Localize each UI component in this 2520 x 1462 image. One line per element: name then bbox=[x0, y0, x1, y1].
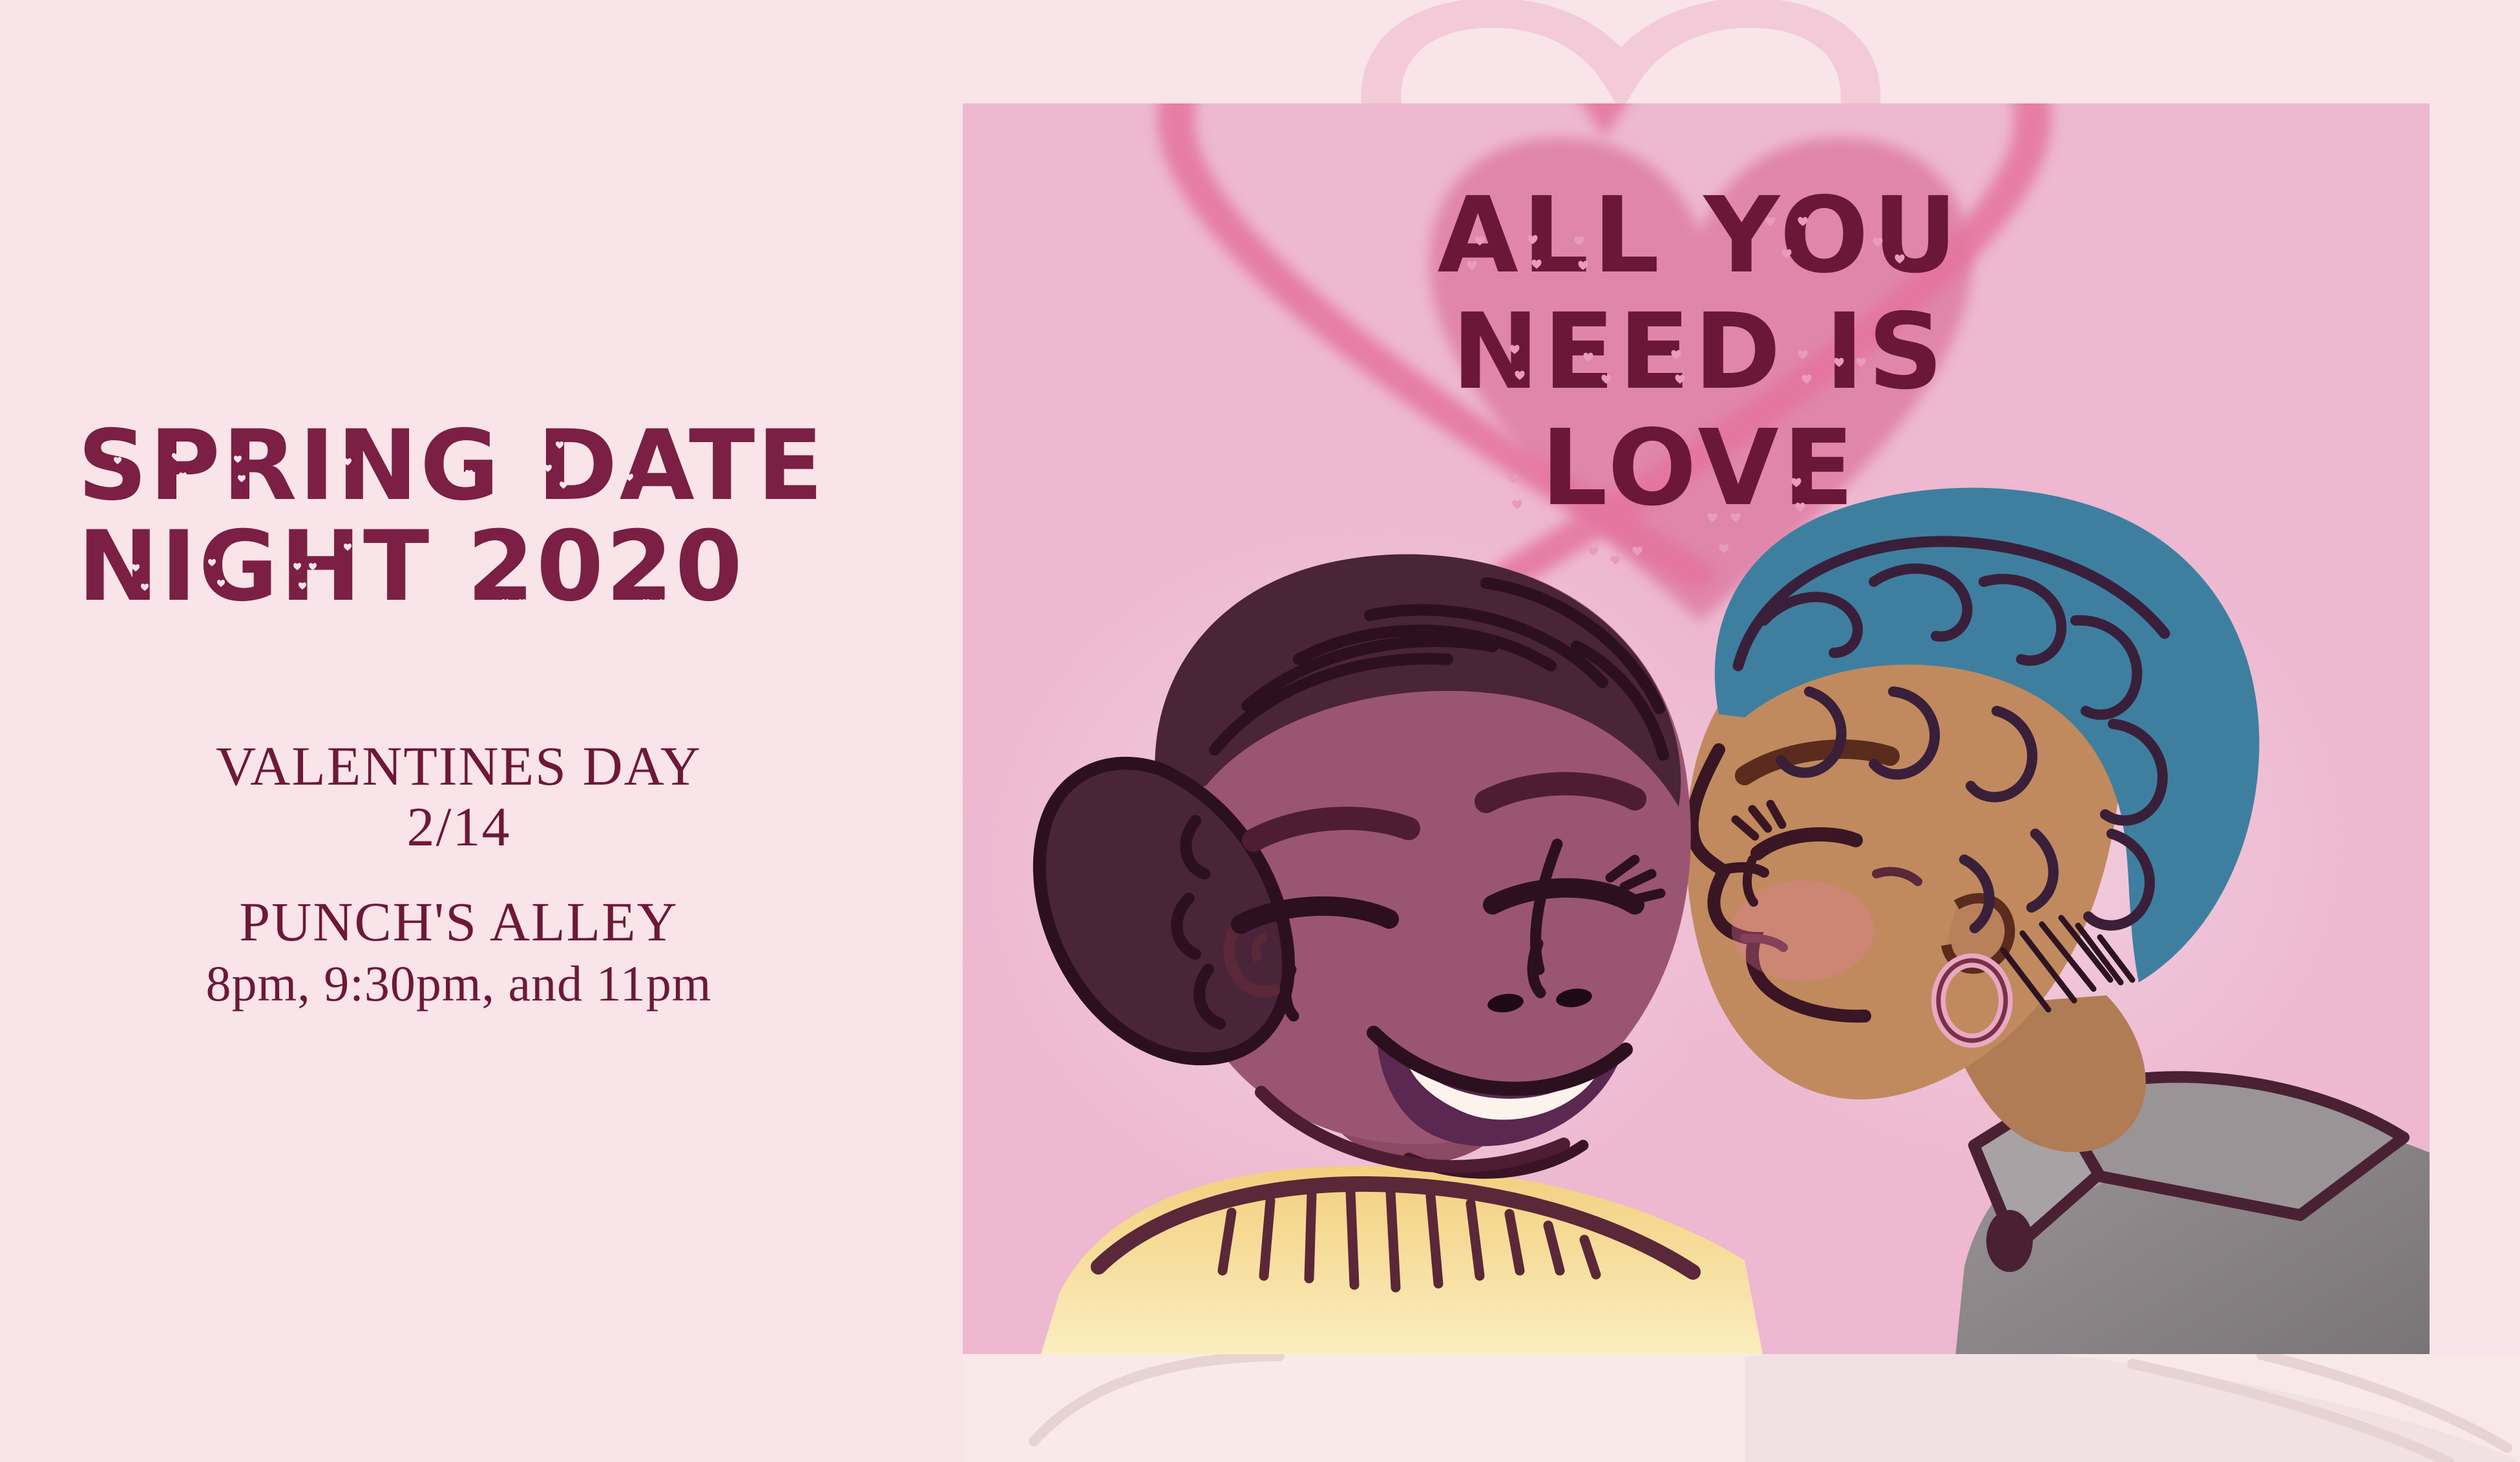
headline-line-2: NIGHT 2020 bbox=[78, 511, 744, 623]
details-block: VALENTINES DAY 2/14 PUNCH'S ALLEY 8pm, 9… bbox=[0, 737, 918, 1013]
heart-outline-bleed-top bbox=[1195, 0, 2165, 103]
illustration-panel: ALL YOU NEED IS LOVE bbox=[963, 103, 2430, 1354]
date-text: 2/14 bbox=[0, 795, 918, 859]
headline-block: SPRING DATE NIGHT 2020 bbox=[78, 414, 918, 637]
times-text: 8pm, 9:30pm, and 11pm bbox=[0, 955, 918, 1013]
heart-bleed-svg bbox=[1195, 0, 2165, 103]
illustration-bleed-bottom bbox=[963, 1354, 2520, 1462]
bleed-bottom-art bbox=[963, 1354, 2520, 1462]
illustration-clip: ALL YOU NEED IS LOVE bbox=[963, 103, 2430, 1354]
heart-text-line-1: ALL YOU bbox=[1437, 175, 1961, 297]
bleed-left-art bbox=[840, 1354, 963, 1462]
text-column: SPRING DATE NIGHT 2020 bbox=[0, 0, 963, 1462]
illustration-artwork: ALL YOU NEED IS LOVE bbox=[963, 103, 2430, 1354]
heart-text-line-3: LOVE bbox=[1541, 408, 1858, 529]
headline-svg: SPRING DATE NIGHT 2020 bbox=[78, 414, 918, 633]
occasion-text: VALENTINES DAY bbox=[0, 737, 918, 795]
heart-text-line-2: NEED IS bbox=[1452, 291, 1948, 413]
illustration-bleed-left bbox=[840, 1354, 963, 1462]
headline-line-1: SPRING DATE bbox=[78, 414, 825, 522]
poster-canvas: SPRING DATE NIGHT 2020 bbox=[0, 0, 2520, 1462]
venue-text: PUNCH'S ALLEY bbox=[0, 893, 918, 951]
